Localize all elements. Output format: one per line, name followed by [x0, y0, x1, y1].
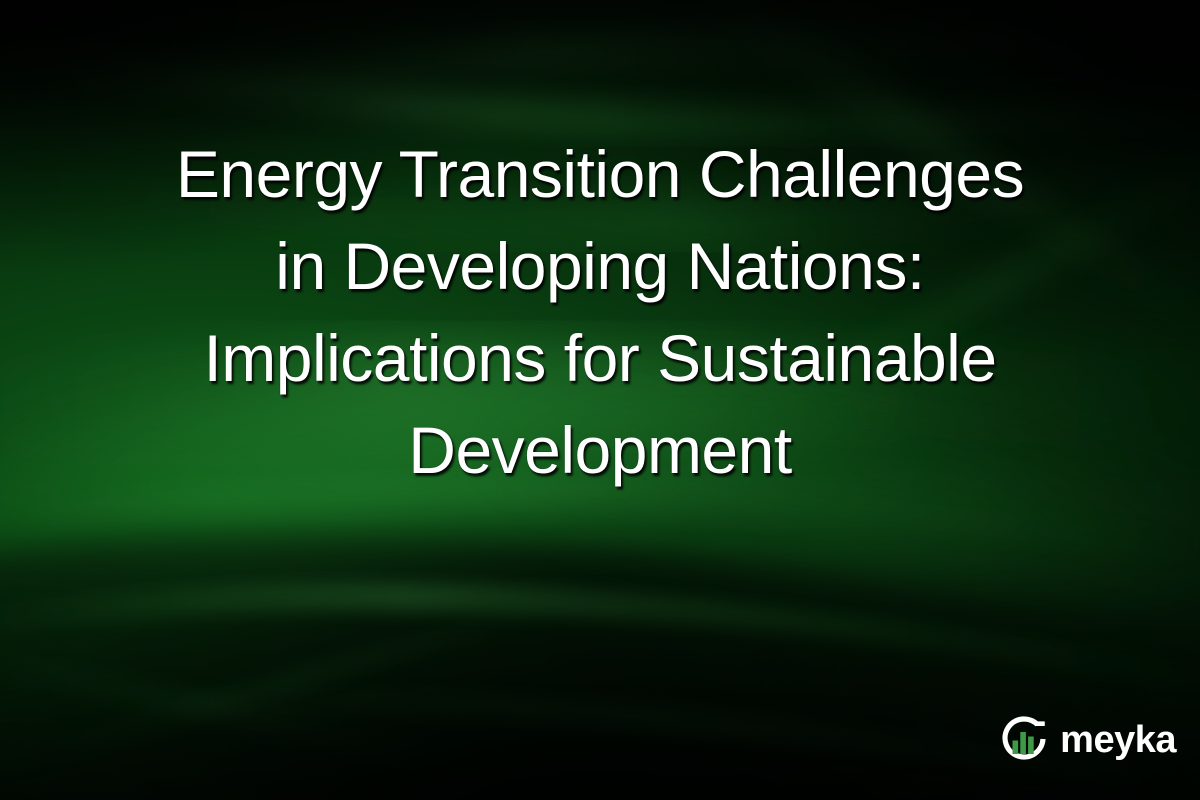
- brand-logo[interactable]: meyka: [997, 712, 1176, 766]
- title-line-2: in Developing Nations:: [48, 220, 1152, 312]
- title-line-1: Energy Transition Challenges: [48, 128, 1152, 220]
- title-line-4: Development: [48, 404, 1152, 496]
- title-line-3: Implications for Sustainable: [48, 312, 1152, 404]
- page-title: Energy Transition Challenges in Developi…: [48, 128, 1152, 496]
- presentation-slide: Energy Transition Challenges in Developi…: [0, 0, 1200, 800]
- brand-wordmark: meyka: [1060, 721, 1176, 759]
- meyka-circle-bars-icon: [997, 712, 1051, 766]
- slide-title-block: Energy Transition Challenges in Developi…: [0, 128, 1200, 496]
